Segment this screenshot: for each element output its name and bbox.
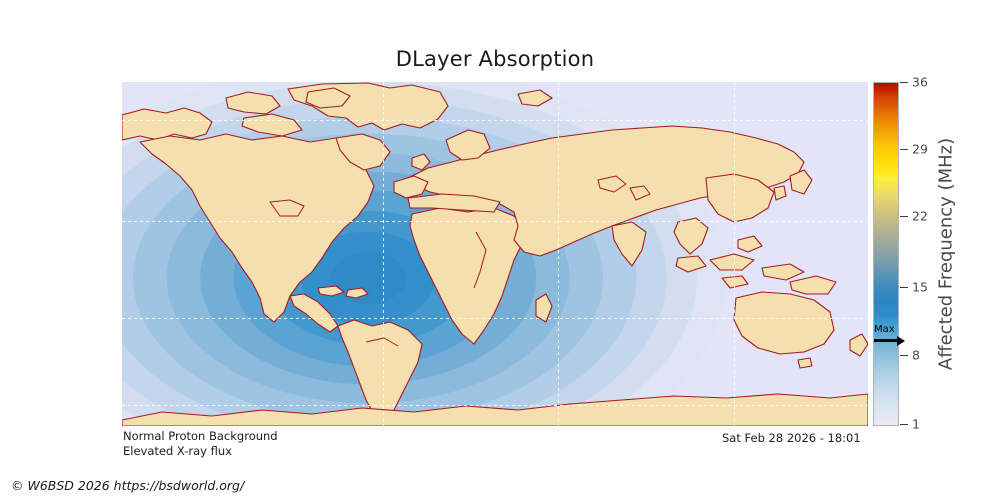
note-xray-flux: Elevated X-ray flux [123, 444, 278, 459]
timestamp-label: Sat Feb 28 2026 - 18:01 [722, 431, 861, 445]
colorbar-axis-label: Affected Frequency (MHz) [936, 138, 957, 370]
colorbar-tick-22 [900, 216, 908, 217]
colorbar-tick-29 [900, 149, 908, 150]
colorbar-tick-label-8: 8 [912, 348, 920, 363]
colorbar-tick-label-22: 22 [912, 209, 928, 224]
colorbar-gradient [873, 82, 899, 426]
world-coastlines-svg [122, 82, 868, 426]
footer-credit: © W6BSD 2026 https://bsdworld.org/ [11, 478, 244, 493]
colorbar-tick-1 [900, 424, 908, 425]
note-proton-background: Normal Proton Background [123, 429, 278, 444]
world-map-plot[interactable] [122, 82, 868, 426]
colorbar-tick-label-1: 1 [912, 416, 920, 431]
status-notes: Normal Proton Background Elevated X-ray … [123, 429, 278, 459]
page-title: DLayer Absorption [0, 47, 990, 71]
colorbar-tick-8 [900, 355, 908, 356]
colorbar-tick-label-15: 15 [912, 280, 928, 295]
colorbar-tick-label-29: 29 [912, 141, 928, 156]
dlayer-absorption-map-page: DLayer Absorption [0, 0, 1000, 500]
colorbar-tick-label-36: 36 [912, 75, 928, 90]
colorbar-tick-36 [900, 82, 908, 83]
colorbar[interactable]: 3629221581 [873, 82, 899, 426]
colorbar-tick-15 [900, 287, 908, 288]
